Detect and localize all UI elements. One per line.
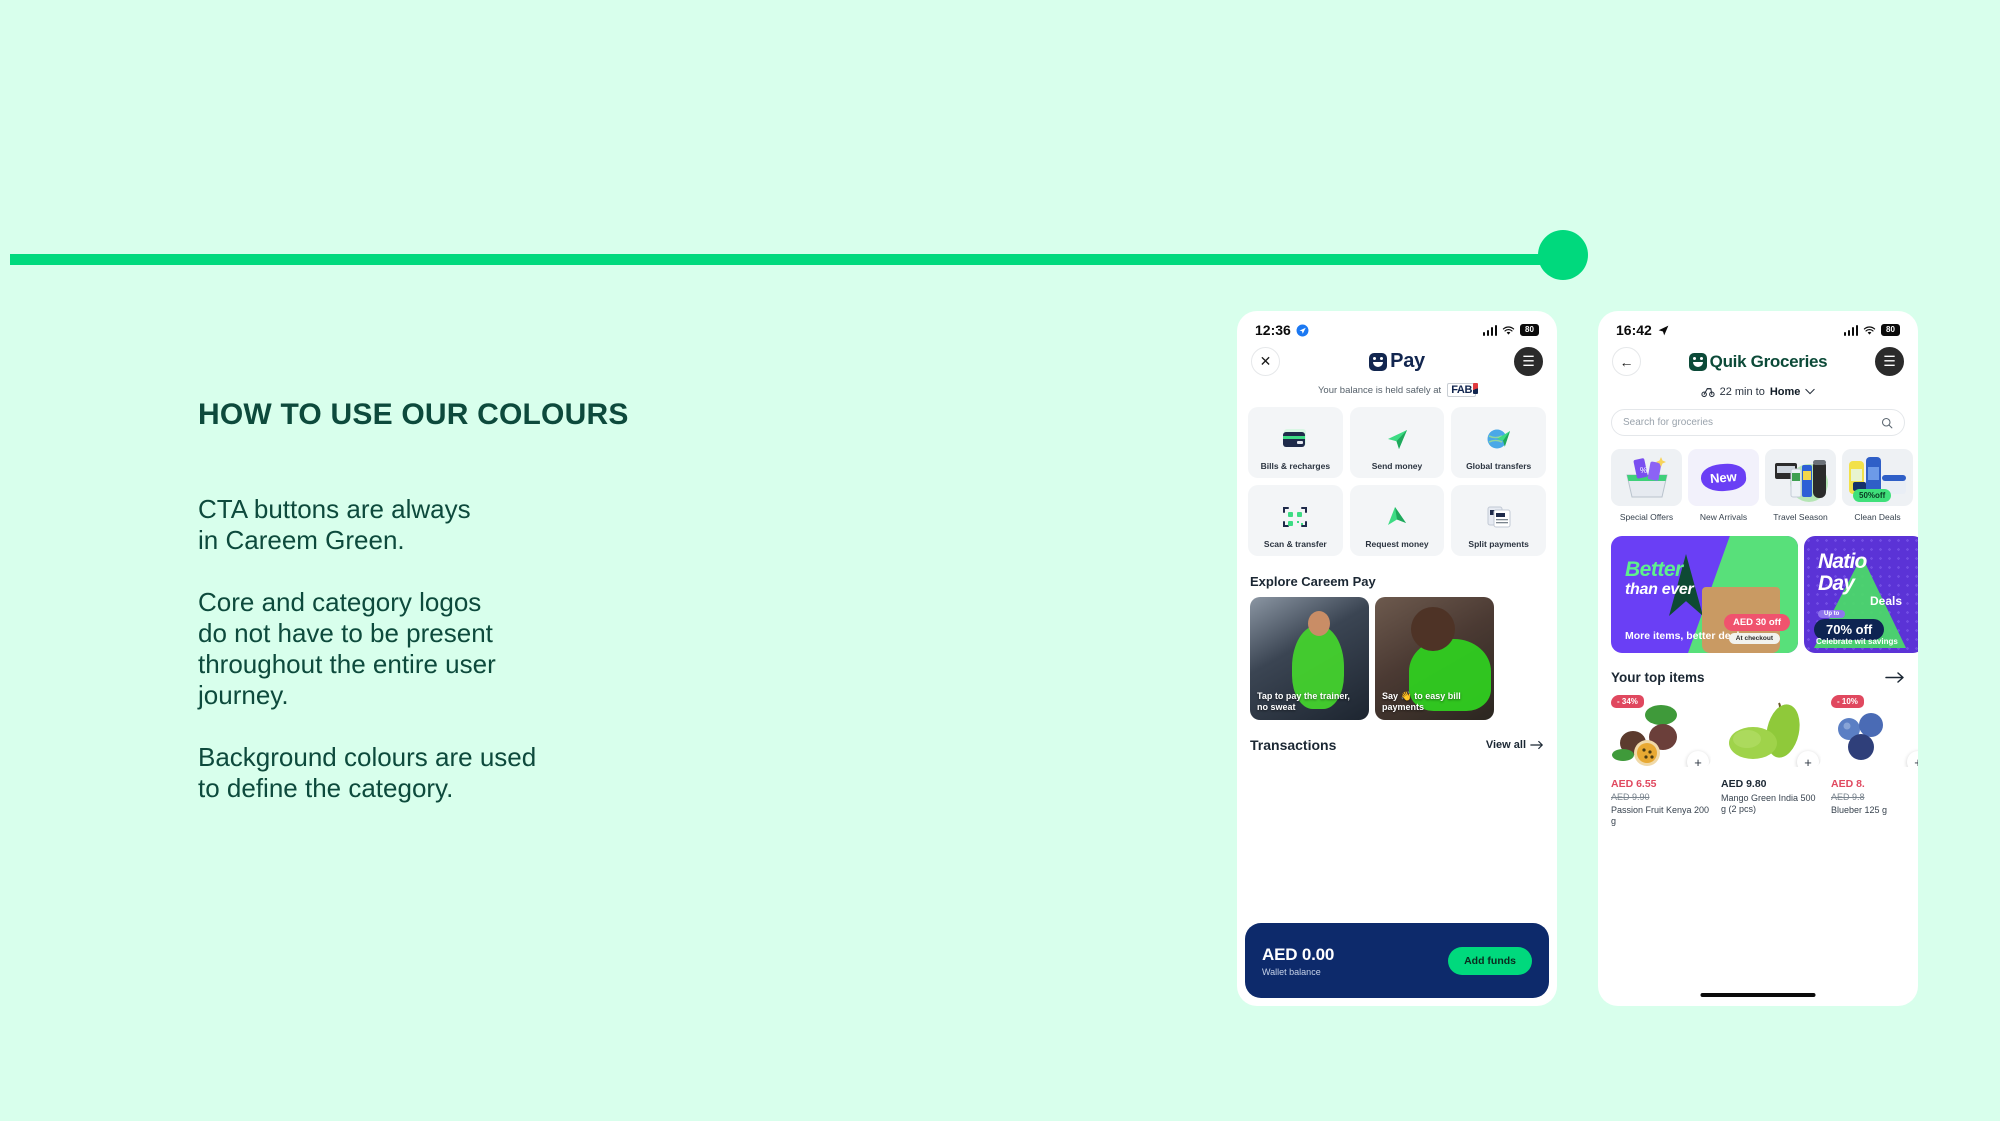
paragraph-2-line-1: Core and category logos: [198, 587, 838, 618]
tile-request-money[interactable]: Request money: [1350, 485, 1445, 556]
arrow-right-icon: [1530, 740, 1544, 750]
product-image: +: [1721, 695, 1821, 767]
location-arrow-icon: [1657, 324, 1670, 337]
card-icon: [1280, 424, 1310, 454]
home-indicator: [1701, 993, 1816, 997]
top-items-title: Your top items: [1611, 670, 1705, 685]
promo-banner-national-day[interactable]: Natio Day Deals Up to 70% off Celebrate …: [1804, 536, 1918, 653]
tile-scan-transfer[interactable]: Scan & transfer: [1248, 485, 1343, 556]
product-name: Passion Fruit Kenya 200 g: [1611, 805, 1711, 827]
pay-header: ✕ Pay ☰: [1237, 341, 1557, 376]
pay-action-grid: Bills & recharges Send money Global tran…: [1237, 407, 1557, 556]
paragraph-1: CTA buttons are always in Careem Green.: [198, 494, 838, 556]
discount-badge: - 10%: [1831, 695, 1864, 708]
qr-code-icon: [1280, 502, 1310, 532]
wallet-bar-bottom-line: [1350, 998, 1445, 1002]
phone-mockup-pay: 12:36 80 ✕ Pay ☰ Your balance is held sa…: [1237, 311, 1557, 1006]
wallet-bar-top-line: [1369, 918, 1425, 922]
status-time: 12:36: [1255, 322, 1291, 338]
product-card[interactable]: - 34% + AED 6.55 AED 9.90 Passi: [1611, 695, 1711, 827]
view-all-label: View all: [1486, 739, 1526, 751]
category-badge: 50%off: [1853, 489, 1891, 502]
arrow-right-icon[interactable]: [1885, 671, 1905, 684]
fab-bank-logo: FAB: [1447, 383, 1476, 397]
promo-headline-1: Natio: [1818, 550, 1867, 574]
menu-icon[interactable]: ☰: [1875, 347, 1904, 376]
status-left: 12:36: [1255, 322, 1309, 338]
product-old-price: AED 9.8: [1831, 792, 1918, 802]
page-title: HOW TO USE OUR COLOURS: [198, 398, 838, 432]
discount-badge: - 34%: [1611, 695, 1644, 708]
explore-card-caption: Tap to pay the trainer, no sweat: [1257, 691, 1362, 713]
tile-label: Bills & recharges: [1261, 461, 1330, 471]
category-art: [1765, 449, 1836, 506]
promo-headline-2: Day: [1818, 572, 1854, 596]
basket-offers-icon: %: [1611, 449, 1682, 506]
wifi-icon: [1863, 325, 1876, 336]
paragraph-2-line-3: throughout the entire user: [198, 649, 838, 680]
tile-global-transfers[interactable]: Global transfers: [1451, 407, 1546, 478]
explore-carousel[interactable]: Tap to pay the trainer, no sweat Say 👋 t…: [1237, 597, 1557, 720]
new-badge-art: New: [1700, 462, 1747, 493]
pay-title: Pay: [1390, 350, 1425, 373]
careem-smiley-icon: [1369, 353, 1387, 371]
explore-card-caption: Say 👋 to easy bill payments: [1382, 691, 1487, 713]
explore-card[interactable]: Tap to pay the trainer, no sweat: [1250, 597, 1369, 720]
delivery-eta-selector[interactable]: 22 min to Home: [1598, 376, 1918, 398]
paragraph-3-line-1: Background colours are used: [198, 742, 838, 773]
groceries-header: ← Quik Groceries ☰: [1598, 341, 1918, 376]
careem-smiley-icon: [1689, 353, 1707, 371]
wallet-balance-bar: AED 0.00 Wallet balance Add funds: [1245, 923, 1549, 998]
tile-label: Split payments: [1468, 539, 1528, 549]
category-art: New: [1688, 449, 1759, 506]
promo-upto-label: Up to: [1818, 610, 1845, 618]
product-old-price: AED 9.90: [1611, 792, 1711, 802]
travel-products-icon: [1765, 449, 1836, 506]
paragraph-1-line-2: in Careem Green.: [198, 525, 838, 556]
status-right: 80: [1844, 324, 1901, 336]
category-label: Clean Deals: [1842, 512, 1913, 522]
category-label: Travel Season: [1765, 512, 1836, 522]
category-special-offers[interactable]: % Special Offers: [1611, 449, 1682, 522]
promo-headline-1: Better: [1625, 558, 1683, 582]
tile-split-payments[interactable]: Split payments: [1451, 485, 1546, 556]
tile-label: Scan & transfer: [1264, 539, 1327, 549]
bike-icon: [1701, 385, 1715, 398]
wallet-amount: AED 0.00: [1262, 945, 1334, 965]
product-price: AED 9.80: [1721, 778, 1821, 790]
category-art: %: [1611, 449, 1682, 506]
category-carousel[interactable]: % Special Offers New New Arrivals: [1598, 436, 1918, 522]
documents-icon: [1484, 502, 1514, 532]
product-image: - 10% +: [1831, 695, 1918, 767]
status-bar-groceries: 16:42 80: [1598, 311, 1918, 341]
signal-icon: [1483, 325, 1498, 336]
back-icon[interactable]: ←: [1612, 347, 1641, 376]
promo-offer-note: At checkout: [1729, 633, 1780, 644]
explore-card[interactable]: Say 👋 to easy bill payments: [1375, 597, 1494, 720]
status-bar-pay: 12:36 80: [1237, 311, 1557, 341]
status-time: 16:42: [1616, 322, 1652, 338]
promo-carousel[interactable]: Better than ever More items, better deal…: [1598, 522, 1918, 653]
wallet-label: Wallet balance: [1262, 967, 1334, 977]
status-left: 16:42: [1616, 322, 1670, 338]
paragraph-3: Background colours are used to define th…: [198, 742, 838, 804]
send-arrow-icon: [1382, 424, 1412, 454]
product-price: AED 6.55: [1611, 778, 1711, 790]
tile-label: Send money: [1372, 461, 1423, 471]
paragraph-2-line-4: journey.: [198, 680, 838, 711]
product-image: - 34% +: [1611, 695, 1711, 767]
paragraph-3-line-2: to define the category.: [198, 773, 838, 804]
category-new-arrivals[interactable]: New New Arrivals: [1688, 449, 1759, 522]
menu-icon[interactable]: ☰: [1514, 347, 1543, 376]
add-to-cart-button[interactable]: +: [1797, 751, 1819, 767]
eta-text: 22 min to: [1720, 386, 1765, 398]
progress-track[interactable]: [10, 254, 1570, 265]
view-all-button[interactable]: View all: [1486, 739, 1544, 751]
status-right: 80: [1483, 324, 1540, 336]
battery-icon: 80: [1520, 324, 1539, 336]
pay-logo: Pay: [1369, 350, 1425, 373]
category-label: New Arrivals: [1688, 512, 1759, 522]
phone-mockup-groceries: 16:42 80 ← Quik Groceries ☰ 22 min to Ho…: [1598, 311, 1918, 1006]
transactions-header: Transactions View all: [1237, 720, 1557, 762]
category-label: Special Offers: [1611, 512, 1682, 522]
search-icon[interactable]: [1881, 417, 1893, 429]
promo-deals-label: Deals: [1870, 594, 1902, 608]
request-arrow-icon: [1382, 502, 1412, 532]
search-placeholder: Search for groceries: [1623, 417, 1713, 428]
globe-arrow-icon: [1484, 424, 1514, 454]
promo-banner-better-than-ever[interactable]: Better than ever More items, better deal…: [1611, 536, 1798, 653]
promo-subtext: Celebrate wit savings: [1816, 637, 1898, 647]
svg-text:%: %: [1640, 466, 1647, 475]
promo-headline-2: than ever: [1625, 581, 1693, 599]
tile-send-money[interactable]: Send money: [1350, 407, 1445, 478]
top-items-header: Your top items: [1598, 653, 1918, 695]
add-funds-button[interactable]: Add funds: [1448, 947, 1532, 975]
promo-offer-pill: AED 30 off: [1724, 614, 1790, 631]
paragraph-1-line-1: CTA buttons are always: [198, 494, 838, 525]
copy-block: HOW TO USE OUR COLOURS CTA buttons are a…: [198, 398, 838, 804]
balance-safety-note: Your balance is held safely at FAB: [1237, 376, 1557, 407]
tile-bills-recharges[interactable]: Bills & recharges: [1248, 407, 1343, 478]
search-input[interactable]: Search for groceries: [1611, 409, 1905, 436]
safety-note-text: Your balance is held safely at: [1318, 385, 1441, 396]
top-items-carousel[interactable]: - 34% + AED 6.55 AED 9.90 Passi: [1598, 695, 1918, 827]
transactions-title: Transactions: [1250, 737, 1336, 753]
product-price: AED 8.: [1831, 778, 1918, 790]
category-art: 50%off: [1842, 449, 1913, 506]
chevron-down-icon: [1805, 388, 1815, 395]
signal-icon: [1844, 325, 1859, 336]
tile-label: Request money: [1365, 539, 1428, 549]
product-card[interactable]: - 10% + AED 8. AED 9.8 Blueber 125 g: [1831, 695, 1918, 827]
product-name: Mango Green India 500 g (2 pcs): [1721, 793, 1821, 815]
category-travel-season[interactable]: Travel Season: [1765, 449, 1836, 522]
explore-card-image-head: [1411, 607, 1455, 651]
category-clean-deals[interactable]: 50%off Clean Deals: [1842, 449, 1913, 522]
product-card[interactable]: + AED 9.80 Mango Green India 500 g (2 pc…: [1721, 695, 1821, 827]
slide-canvas: HOW TO USE OUR COLOURS CTA buttons are a…: [0, 0, 2000, 1121]
wallet-info: AED 0.00 Wallet balance: [1262, 945, 1334, 977]
explore-section-title: Explore Careem Pay: [1237, 556, 1557, 597]
eta-destination: Home: [1770, 386, 1801, 398]
quik-groceries-logo: Quik Groceries: [1689, 352, 1828, 372]
tile-label: Global transfers: [1466, 461, 1531, 471]
paragraph-2-line-2: do not have to be present: [198, 618, 838, 649]
wifi-icon: [1502, 325, 1515, 336]
location-arrow-icon: [1296, 324, 1309, 337]
paragraph-2: Core and category logos do not have to b…: [198, 587, 838, 711]
product-name: Blueber 125 g: [1831, 805, 1918, 816]
add-to-cart-button[interactable]: +: [1687, 751, 1709, 767]
explore-card-image-head: [1308, 611, 1330, 636]
progress-knob[interactable]: [1538, 230, 1588, 280]
progress-slider[interactable]: [0, 248, 1610, 270]
groceries-title: Quik Groceries: [1710, 352, 1828, 372]
battery-icon: 80: [1881, 324, 1900, 336]
close-icon[interactable]: ✕: [1251, 347, 1280, 376]
